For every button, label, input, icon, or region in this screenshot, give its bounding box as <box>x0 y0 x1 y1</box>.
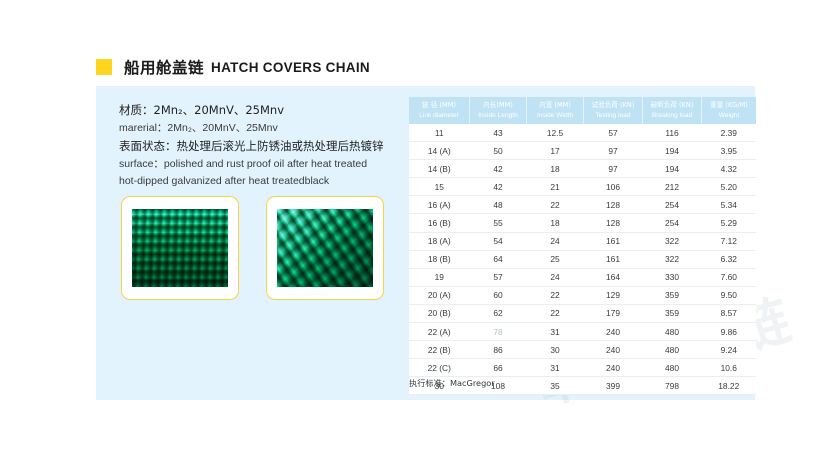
col-weight-en: Weight <box>703 111 755 121</box>
table-cell: 480 <box>643 341 702 359</box>
table-row: 20 (A)60221293599.50 <box>409 286 756 304</box>
table-cell: 7.12 <box>702 232 757 250</box>
table-cell: 62 <box>470 304 527 322</box>
table-cell: 78 <box>470 323 527 341</box>
spec-table-head: 链 径 (MM) Link diameter 内长(MM) Inside Len… <box>409 97 756 124</box>
table-cell: 240 <box>584 341 643 359</box>
col-inside-width-cn: 内宽 (MM) <box>539 101 571 109</box>
table-cell: 18 (A) <box>409 232 470 250</box>
table-row: 18 (A)54241613227.12 <box>409 232 756 250</box>
spec-surface-en-2: hot-dipped galvanized after heat treated… <box>119 173 419 190</box>
table-cell: 212 <box>643 178 702 196</box>
spec-material-cn: 材质：2Mn₂、20MnV、25Mnv <box>119 101 419 120</box>
col-testing-load: 试验负荷 (KN) Testing load <box>584 97 643 124</box>
table-cell: 359 <box>643 304 702 322</box>
page-title: 船用舱盖链 HATCH COVERS CHAIN <box>96 55 370 79</box>
table-cell: 128 <box>584 214 643 232</box>
chain-texture-diagonal <box>277 209 373 287</box>
table-cell: 97 <box>584 142 643 160</box>
table-cell: 128 <box>584 196 643 214</box>
table-cell: 194 <box>643 142 702 160</box>
table-row: 20 (B)62221793598.57 <box>409 304 756 322</box>
table-cell: 106 <box>584 178 643 196</box>
col-weight-cn: 重量 (KG/M) <box>710 101 748 109</box>
table-cell: 54 <box>470 232 527 250</box>
table-cell: 5.34 <box>702 196 757 214</box>
table-cell: 6.32 <box>702 250 757 268</box>
table-header-row: 链 径 (MM) Link diameter 内长(MM) Inside Len… <box>409 97 756 124</box>
chain-photo-right <box>277 209 373 287</box>
table-row: 22 (A)78312404809.86 <box>409 323 756 341</box>
page-title-en: HATCH COVERS CHAIN <box>211 60 370 75</box>
table-cell: 399 <box>584 377 643 395</box>
table-cell: 179 <box>584 304 643 322</box>
table-cell: 2.39 <box>702 124 757 142</box>
table-cell: 22 <box>527 196 584 214</box>
spec-table-wrap: 链 径 (MM) Link diameter 内长(MM) Inside Len… <box>409 97 739 395</box>
table-cell: 24 <box>527 268 584 286</box>
table-cell: 22 (C) <box>409 359 470 377</box>
table-cell: 20 (B) <box>409 304 470 322</box>
specs-text-block: 材质：2Mn₂、20MnV、25Mnv marerial：2Mn₂、20MnV、… <box>119 101 419 190</box>
table-cell: 30 <box>527 341 584 359</box>
spec-material-en: marerial：2Mn₂、20MnV、25Mnv <box>119 120 419 137</box>
col-link-diameter-en: Link diameter <box>410 111 468 121</box>
content-panel: 宰 吉 祥 链 材质：2Mn₂、20MnV、25Mnv marerial：2Mn… <box>96 86 755 400</box>
page-root: 船用舱盖链 HATCH COVERS CHAIN 宰 吉 祥 链 材质：2Mn₂… <box>0 0 830 460</box>
table-row: 14 (B)4218971944.32 <box>409 160 756 178</box>
col-testing-load-cn: 试验负荷 (KN) <box>592 101 635 109</box>
col-link-diameter: 链 径 (MM) Link diameter <box>409 97 470 124</box>
table-cell: 5.29 <box>702 214 757 232</box>
table-cell: 43 <box>470 124 527 142</box>
table-cell: 15 <box>409 178 470 196</box>
table-cell: 22 <box>527 286 584 304</box>
table-cell: 254 <box>643 214 702 232</box>
table-cell: 240 <box>584 323 643 341</box>
table-cell: 25 <box>527 250 584 268</box>
col-breaking-load-en: Breaking load <box>644 111 700 121</box>
spec-table-body: 114312.5571162.3914 (A)5017971943.9514 (… <box>409 124 756 395</box>
table-row: 22 (B)86302404809.24 <box>409 341 756 359</box>
table-row: 14 (A)5017971943.95 <box>409 142 756 160</box>
col-inside-width: 内宽 (MM) Inside Width <box>527 97 584 124</box>
table-cell: 480 <box>643 359 702 377</box>
table-row: 1542211062125.20 <box>409 178 756 196</box>
col-testing-load-en: Testing load <box>585 111 641 121</box>
col-inside-length-cn: 内长(MM) <box>483 101 513 109</box>
table-cell: 330 <box>643 268 702 286</box>
table-cell: 22 (A) <box>409 323 470 341</box>
table-cell: 254 <box>643 196 702 214</box>
table-cell: 10.6 <box>702 359 757 377</box>
table-cell: 480 <box>643 323 702 341</box>
table-cell: 161 <box>584 250 643 268</box>
table-cell: 19 <box>409 268 470 286</box>
table-row: 22 (C)663124048010.6 <box>409 359 756 377</box>
table-row: 1957241643307.60 <box>409 268 756 286</box>
table-cell: 20 (A) <box>409 286 470 304</box>
table-cell: 31 <box>527 359 584 377</box>
table-cell: 22 <box>527 304 584 322</box>
table-cell: 21 <box>527 178 584 196</box>
table-cell: 5.20 <box>702 178 757 196</box>
table-cell: 50 <box>470 142 527 160</box>
table-cell: 18.22 <box>702 377 757 395</box>
table-cell: 4.32 <box>702 160 757 178</box>
table-cell: 8.57 <box>702 304 757 322</box>
table-cell: 18 <box>527 160 584 178</box>
table-cell: 116 <box>643 124 702 142</box>
table-cell: 57 <box>470 268 527 286</box>
table-row: 16 (B)55181282545.29 <box>409 214 756 232</box>
table-cell: 97 <box>584 160 643 178</box>
table-cell: 194 <box>643 160 702 178</box>
spec-table: 链 径 (MM) Link diameter 内长(MM) Inside Len… <box>409 97 756 395</box>
title-marker-square <box>96 59 112 75</box>
col-breaking-load-cn: 破断负荷 (KN) <box>651 101 694 109</box>
table-cell: 7.60 <box>702 268 757 286</box>
table-cell: 14 (B) <box>409 160 470 178</box>
table-cell: 55 <box>470 214 527 232</box>
table-standard-note: 执行标准：MacGregor <box>409 377 495 389</box>
chain-photo-card-right <box>266 196 384 300</box>
table-cell: 9.86 <box>702 323 757 341</box>
table-cell: 11 <box>409 124 470 142</box>
table-cell: 240 <box>584 359 643 377</box>
table-cell: 17 <box>527 142 584 160</box>
table-cell: 42 <box>470 178 527 196</box>
table-cell: 161 <box>584 232 643 250</box>
col-link-diameter-cn: 链 径 (MM) <box>422 101 456 109</box>
table-cell: 48 <box>470 196 527 214</box>
spec-surface-cn: 表面状态：热处理后滚光上防锈油或热处理后热镀锌 <box>119 137 419 156</box>
table-cell: 57 <box>584 124 643 142</box>
spec-surface-en-1: surface：polished and rust proof oil afte… <box>119 156 419 173</box>
col-inside-width-en: Inside Width <box>528 111 582 121</box>
table-cell: 3.95 <box>702 142 757 160</box>
col-inside-length: 内长(MM) Inside Length <box>470 97 527 124</box>
table-cell: 16 (B) <box>409 214 470 232</box>
table-cell: 16 (A) <box>409 196 470 214</box>
table-cell: 14 (A) <box>409 142 470 160</box>
table-row: 114312.5571162.39 <box>409 124 756 142</box>
table-cell: 35 <box>527 377 584 395</box>
table-cell: 42 <box>470 160 527 178</box>
table-cell: 322 <box>643 250 702 268</box>
table-cell: 322 <box>643 232 702 250</box>
table-cell: 9.24 <box>702 341 757 359</box>
table-cell: 22 (B) <box>409 341 470 359</box>
table-cell: 18 <box>527 214 584 232</box>
table-cell: 12.5 <box>527 124 584 142</box>
table-row: 18 (B)64251613226.32 <box>409 250 756 268</box>
table-cell: 9.50 <box>702 286 757 304</box>
table-cell: 24 <box>527 232 584 250</box>
table-cell: 64 <box>470 250 527 268</box>
table-row: 16 (A)48221282545.34 <box>409 196 756 214</box>
table-cell: 31 <box>527 323 584 341</box>
chain-texture-horizontal <box>132 209 228 287</box>
col-weight: 重量 (KG/M) Weight <box>702 97 757 124</box>
table-cell: 86 <box>470 341 527 359</box>
table-cell: 359 <box>643 286 702 304</box>
table-cell: 18 (B) <box>409 250 470 268</box>
table-cell: 798 <box>643 377 702 395</box>
chain-photo-card-left <box>121 196 239 300</box>
table-cell: 129 <box>584 286 643 304</box>
col-inside-length-en: Inside Length <box>471 111 525 121</box>
table-cell: 66 <box>470 359 527 377</box>
col-breaking-load: 破断负荷 (KN) Breaking load <box>643 97 702 124</box>
page-title-cn: 船用舱盖链 <box>124 56 204 78</box>
table-cell: 164 <box>584 268 643 286</box>
chain-photo-left <box>132 209 228 287</box>
table-cell: 60 <box>470 286 527 304</box>
